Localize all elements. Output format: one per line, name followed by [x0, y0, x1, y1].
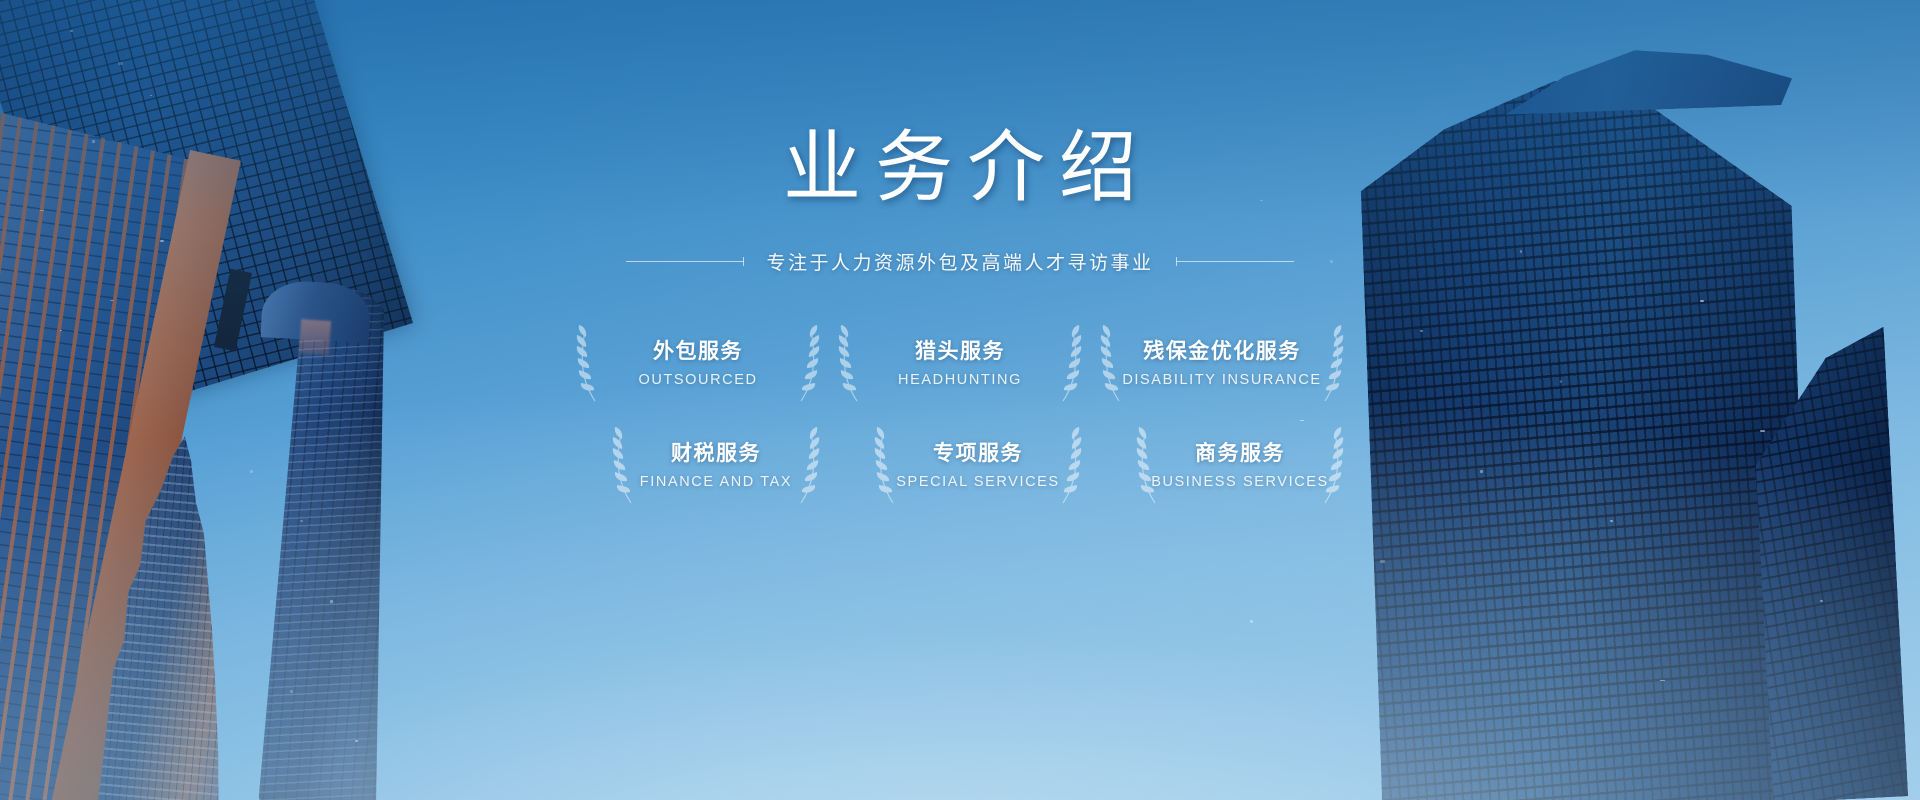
service-item-outsourced[interactable]: 外包服务 OUTSOURCED [567, 321, 829, 407]
service-item-headhunting[interactable]: 猎头服务 HEADHUNTING [829, 321, 1091, 407]
page-title: 业务介绍 [769, 128, 1151, 206]
laurel-wreath-icon [835, 323, 865, 403]
service-title-cn: 专项服务 [933, 442, 1023, 465]
service-title-en: SPECIAL SERVICES [896, 474, 1059, 490]
service-title-cn: 猎头服务 [915, 340, 1005, 363]
page-subtitle: 专注于人力资源外包及高端人才寻访事业 [766, 248, 1153, 275]
laurel-wreath-icon [573, 323, 603, 403]
service-title-en: FINANCE AND TAX [640, 474, 792, 490]
service-title-cn: 残保金优化服务 [1143, 340, 1301, 363]
services-grid: 外包服务 OUTSOURCED [567, 321, 1353, 509]
laurel-wreath-icon [1055, 323, 1085, 403]
laurel-wreath-icon [1317, 425, 1347, 505]
service-item-finance-and-tax[interactable]: 财税服务 FINANCE AND TAX [603, 423, 829, 509]
laurel-wreath-icon [1055, 425, 1085, 505]
hero-content: 业务介绍 专注于人力资源外包及高端人才寻访事业 [0, 0, 1920, 800]
divider-line-left [626, 261, 744, 262]
service-title-cn: 商务服务 [1195, 442, 1285, 465]
business-intro-hero-banner: 业务介绍 专注于人力资源外包及高端人才寻访事业 [0, 0, 1920, 800]
laurel-wreath-icon [1133, 425, 1163, 505]
service-title-en: OUTSOURCED [638, 372, 757, 388]
service-item-business-services[interactable]: 商务服务 BUSINESS SERVICES [1127, 423, 1353, 509]
service-title-cn: 外包服务 [653, 340, 743, 363]
laurel-wreath-icon [609, 425, 639, 505]
service-item-disability-insurance[interactable]: 残保金优化服务 DISABILITY INSURANCE [1091, 321, 1353, 407]
laurel-wreath-icon [871, 425, 901, 505]
laurel-wreath-icon [1317, 323, 1347, 403]
divider-line-right [1176, 261, 1294, 262]
service-title-en: HEADHUNTING [898, 372, 1022, 388]
laurel-wreath-icon [793, 323, 823, 403]
laurel-wreath-icon [793, 425, 823, 505]
service-title-en: BUSINESS SERVICES [1151, 474, 1329, 490]
service-title-en: DISABILITY INSURANCE [1122, 372, 1321, 388]
service-item-special-services[interactable]: 专项服务 SPECIAL SERVICES [865, 423, 1091, 509]
service-title-cn: 财税服务 [671, 442, 761, 465]
laurel-wreath-icon [1097, 323, 1127, 403]
subtitle-row: 专注于人力资源外包及高端人才寻访事业 [626, 248, 1293, 275]
